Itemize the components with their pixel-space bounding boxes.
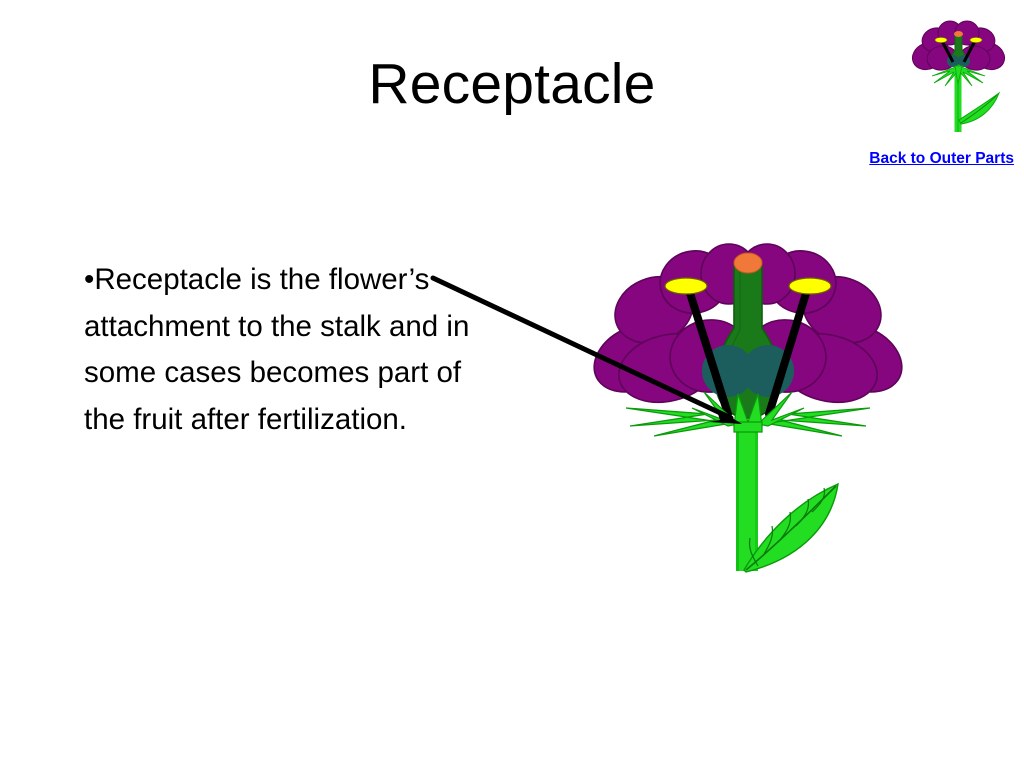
back-to-outer-parts-link[interactable]: Back to Outer Parts — [862, 145, 1014, 172]
stem-leaf-group — [744, 484, 838, 572]
bullet-text: Receptacle is the flower’s attachment to… — [84, 263, 469, 436]
receptacle-pointer-arrow — [420, 262, 760, 442]
bullet-marker: • — [84, 263, 94, 296]
flower-thumbnail-illustration — [898, 14, 1024, 140]
anther-right — [789, 278, 831, 294]
page-title: Receptacle — [0, 52, 1024, 118]
slide-canvas: Receptacle — [0, 0, 1024, 768]
stalk-group — [736, 421, 758, 571]
